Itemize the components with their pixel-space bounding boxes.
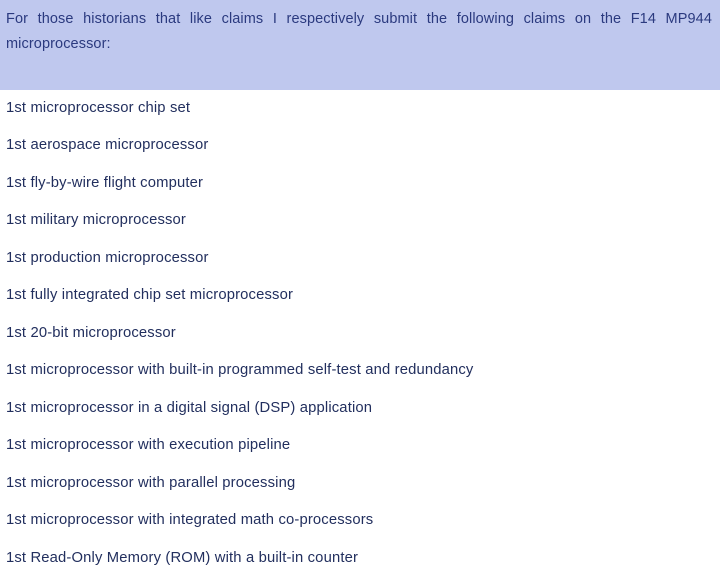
intro-highlight-block: For those historians that like claims I … xyxy=(0,0,720,90)
list-item: 1st fully integrated chip set microproce… xyxy=(0,278,720,316)
list-item: 1st microprocessor with integrated math … xyxy=(0,503,720,541)
claim-label: 1st military microprocessor xyxy=(6,212,186,230)
claim-label: 1st aerospace microprocessor xyxy=(6,137,208,155)
claims-list: 1st microprocessor chip set 1st aerospac… xyxy=(0,90,720,578)
claim-label: 1st microprocessor in a digital signal (… xyxy=(6,400,372,418)
list-item: 1st microprocessor in a digital signal (… xyxy=(0,390,720,428)
claim-label: 1st microprocessor with integrated math … xyxy=(6,512,373,530)
list-item: 1st military microprocessor xyxy=(0,203,720,241)
claim-label: 1st Read-Only Memory (ROM) with a built-… xyxy=(6,550,358,568)
list-item: 1st fly-by-wire flight computer xyxy=(0,165,720,203)
list-item: 1st microprocessor with execution pipeli… xyxy=(0,428,720,466)
list-item: 1st Read-Only Memory (ROM) with a built-… xyxy=(0,540,720,578)
claim-label: 1st fully integrated chip set microproce… xyxy=(6,287,293,305)
list-item: 1st aerospace microprocessor xyxy=(0,128,720,166)
claim-label: 1st microprocessor with parallel process… xyxy=(6,475,295,493)
claim-label: 1st 20-bit microprocessor xyxy=(6,325,176,343)
document-page: For those historians that like claims I … xyxy=(0,0,720,555)
claim-label: 1st fly-by-wire flight computer xyxy=(6,175,203,193)
list-item: 1st microprocessor chip set xyxy=(0,90,720,128)
claim-label: 1st microprocessor chip set xyxy=(6,100,190,118)
claim-label: 1st production microprocessor xyxy=(6,250,209,268)
list-item: 1st microprocessor with parallel process… xyxy=(0,465,720,503)
list-item: 1st microprocessor with built-in program… xyxy=(0,353,720,391)
claim-label: 1st microprocessor with built-in program… xyxy=(6,362,473,380)
list-item: 1st production microprocessor xyxy=(0,240,720,278)
list-item: 1st 20-bit microprocessor xyxy=(0,315,720,353)
intro-paragraph: For those historians that like claims I … xyxy=(6,7,712,82)
claim-label: 1st microprocessor with execution pipeli… xyxy=(6,437,290,455)
